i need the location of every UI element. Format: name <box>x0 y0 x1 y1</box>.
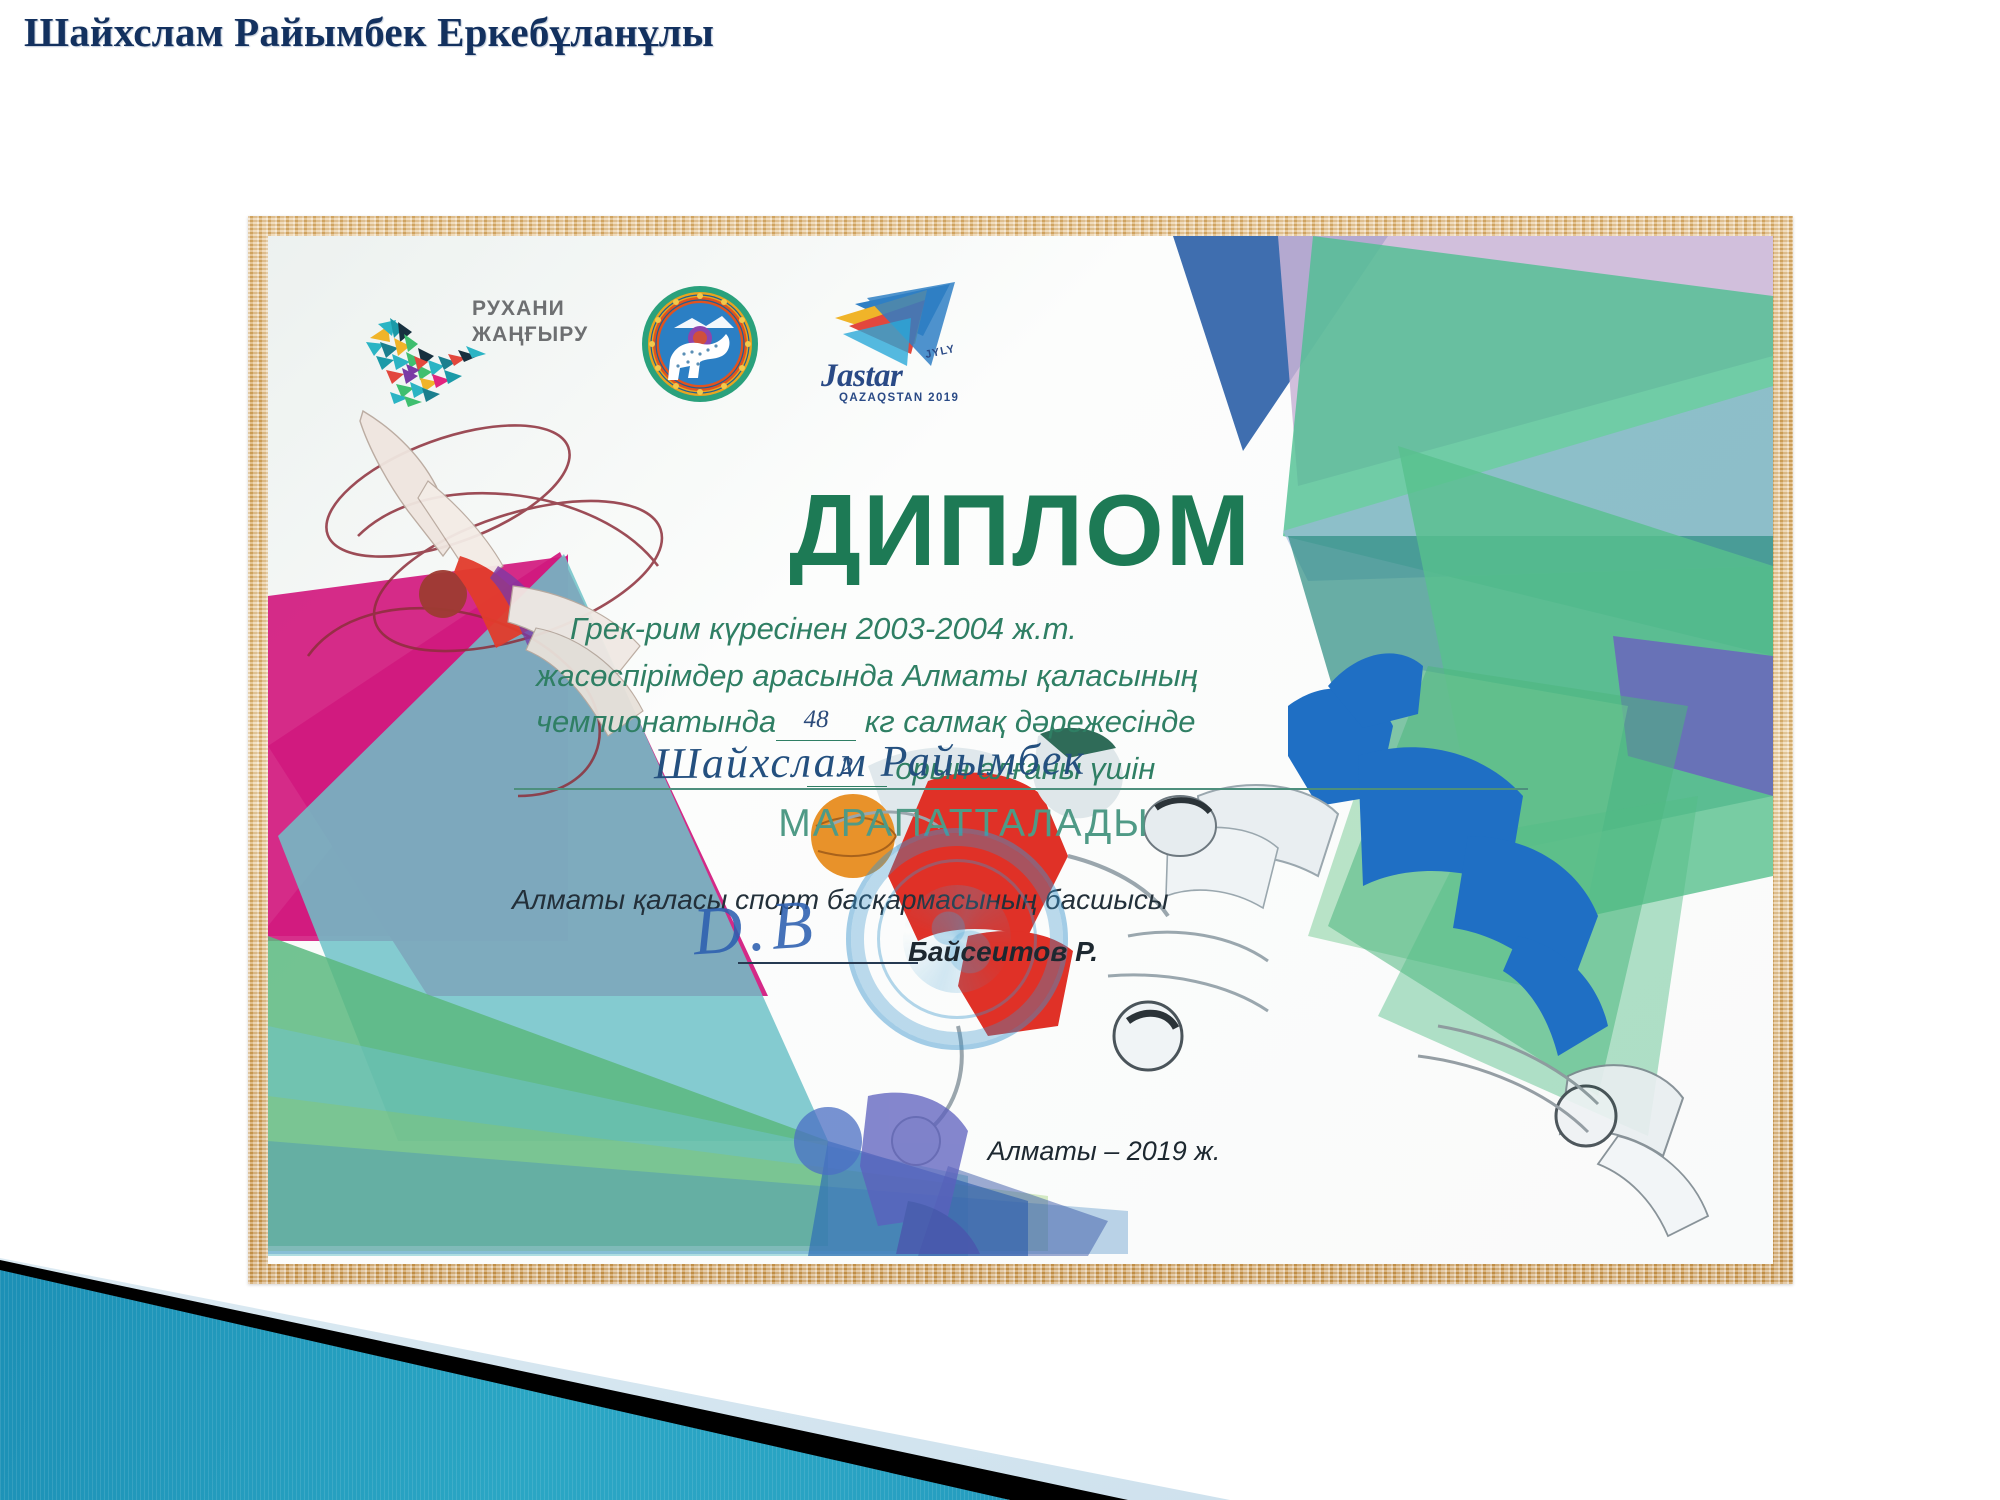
mosaic-bird-icon <box>360 308 490 408</box>
logo-row: РУХАНИ ЖАҢҒЫРУ <box>340 264 1200 434</box>
recipient-name-rule <box>514 788 1528 790</box>
signer-role: Алматы қаласы спорт басқармасының басшыс… <box>512 884 1169 916</box>
almaty-emblem-logo <box>640 284 760 404</box>
jastar-logo: Jastar JYLY QAZAQSTAN 2019 <box>815 274 985 419</box>
body-line-2: жасөспірімдер арасында Алматы қаласының <box>536 653 1416 700</box>
signature-rule <box>738 962 918 964</box>
ruhani-zhangyru-logo: РУХАНИ ЖАҢҒЫРУ <box>360 290 595 410</box>
place-and-date: Алматы – 2019 ж. <box>824 1136 1384 1167</box>
recipient-name-handwritten: Шайхслам Райымбек <box>590 733 1151 790</box>
page-title: Шайхслам Райымбек Еркебұланұлы <box>24 8 714 56</box>
body-line-1: Грек-рим күресінен 2003-2004 ж.т. <box>536 606 1416 653</box>
signer-name: Байсеитов Р. <box>908 936 1098 968</box>
diploma-image: РУХАНИ ЖАҢҒЫРУ <box>248 216 1793 1284</box>
body-line-3-prefix: чемпионатында <box>536 704 776 739</box>
weight-value-field[interactable]: 48 <box>776 701 856 741</box>
certificate-paper: РУХАНИ ЖАҢҒЫРУ <box>268 236 1773 1264</box>
diploma-heading: ДИПЛОМ <box>268 474 1773 589</box>
ruhani-logo-text: РУХАНИ ЖАҢҒЫРУ <box>472 296 588 347</box>
almaty-snow-leopard-emblem-icon <box>640 284 760 404</box>
ruhani-line1: РУХАНИ <box>472 296 588 322</box>
ruhani-line2: ЖАҢҒЫРУ <box>472 322 588 348</box>
jastar-subtitle: QAZAQSTAN 2019 <box>839 392 959 404</box>
jastar-wordmark: Jastar <box>821 358 981 395</box>
signature-mark: D.B <box>690 884 821 972</box>
